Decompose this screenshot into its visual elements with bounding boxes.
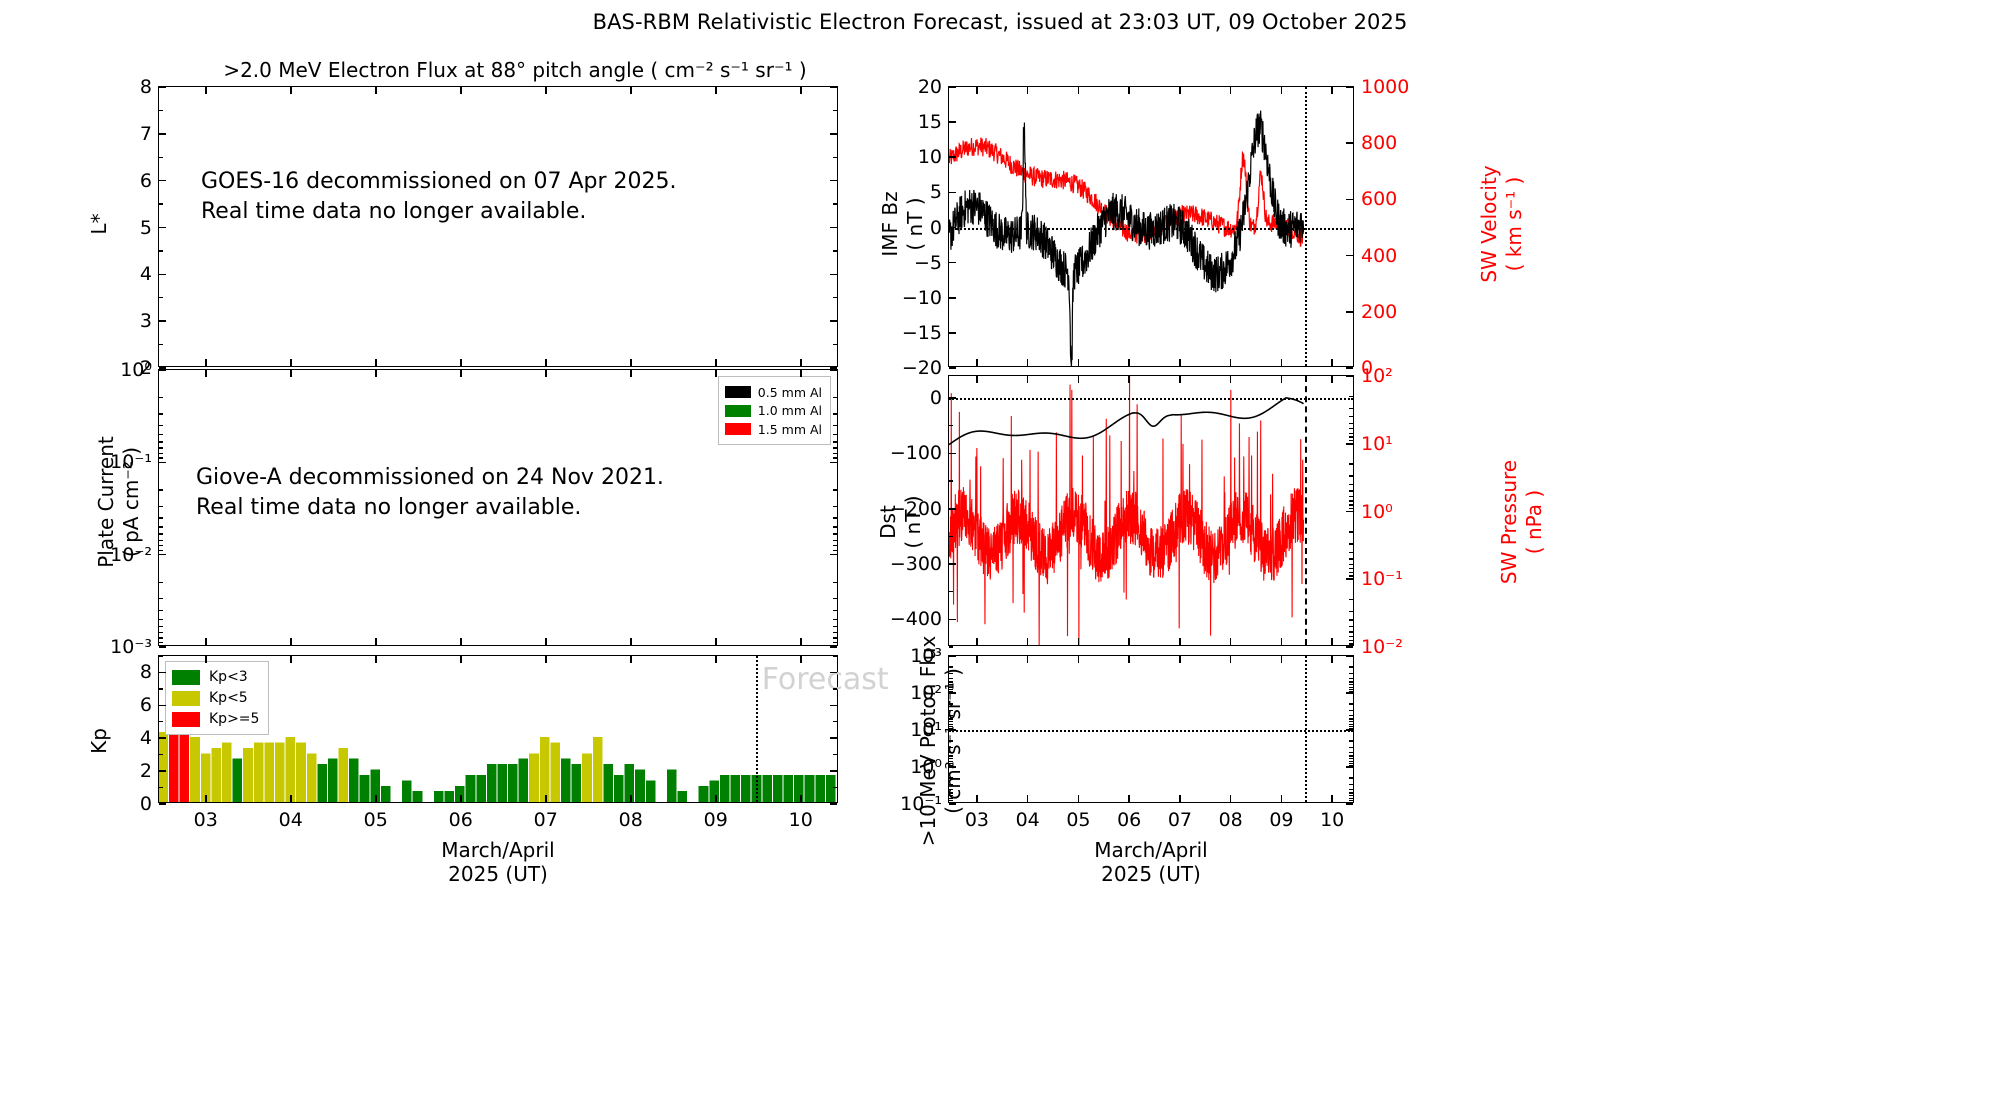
plate-message-line2: Real time data no longer available.	[196, 493, 581, 522]
proton-ylabel-line1: >10 MeV Proton Flux	[916, 606, 940, 876]
imf-ytick-1: 15	[918, 111, 942, 133]
legend-swatch-1.5mm	[725, 423, 751, 435]
kp-legend-swatch-mid	[172, 691, 200, 706]
sw-velocity-ylabel-line2: ( km s⁻¹ )	[1502, 139, 1526, 309]
swp-ytick-0: 10²	[1361, 365, 1393, 387]
flux-message-line2: Real time data no longer available.	[201, 197, 586, 226]
kp-xtick-04: 04	[279, 809, 303, 831]
sw-pressure-ylabel-line2: ( nPa )	[1522, 427, 1546, 617]
electron-flux-panel: GOES-16 decommissioned on 07 Apr 2025. R…	[158, 86, 838, 367]
kp-xtick-05: 05	[364, 809, 388, 831]
legend-item-2: 1.5 mm Al	[725, 421, 822, 438]
flux-ytick-7: 7	[140, 123, 152, 145]
plate-message-line1: Giove-A decommissioned on 24 Nov 2021.	[196, 463, 664, 492]
dst-panel: 0−100−200−300−40010²10¹10⁰10⁻¹10⁻²	[948, 375, 1354, 646]
plate-current-legend: 0.5 mm Al 1.0 mm Al 1.5 mm Al	[718, 376, 831, 445]
proton-xtick-07: 07	[1168, 809, 1192, 831]
imf-forecast-divider	[1305, 87, 1307, 366]
flux-ytick-8: 8	[140, 76, 152, 98]
kp-xtick-08: 08	[619, 809, 643, 831]
flux-panel-title: >2.0 MeV Electron Flux at 88° pitch angl…	[155, 58, 875, 82]
legend-item-1: 1.0 mm Al	[725, 402, 822, 419]
legend-swatch-1.0mm	[725, 405, 751, 417]
kp-ytick-8: 8	[140, 661, 152, 683]
imf-bz-sw-velocity-chart	[949, 87, 1353, 366]
imf-ylabel-line1: IMF Bz	[878, 164, 902, 284]
swv-ytick-2: 600	[1361, 188, 1397, 210]
swp-ytick-3: 10⁻¹	[1361, 568, 1403, 590]
kp-legend-swatch-high	[172, 712, 200, 727]
imf-ytick-4: 0	[930, 217, 942, 239]
flux-ytick-5: 5	[140, 217, 152, 239]
kp-legend-item-2: Kp>=5	[172, 709, 259, 729]
kp-xtick-10: 10	[789, 809, 813, 831]
flux-message-line1: GOES-16 decommissioned on 07 Apr 2025.	[201, 167, 677, 196]
page-title: BAS-RBM Relativistic Electron Forecast, …	[0, 10, 2000, 34]
proton-threshold-line	[949, 730, 1353, 732]
imf-ytick-7: −15	[902, 322, 942, 344]
dst-zero-line	[949, 398, 1353, 400]
proton-xlabel-line2: 2025 (UT)	[1011, 862, 1291, 886]
flux-ytick-3: 3	[140, 310, 152, 332]
kp-forecast-divider	[756, 656, 758, 802]
forecast-dashboard: BAS-RBM Relativistic Electron Forecast, …	[0, 0, 2000, 1100]
legend-swatch-0.5mm	[725, 386, 751, 398]
dst-sw-pressure-chart	[949, 376, 1353, 645]
flux-ylabel: L*	[87, 204, 111, 244]
dst-ytick-0: 0	[930, 387, 942, 409]
proton-xtick-05: 05	[1066, 809, 1090, 831]
swp-ytick-1: 10¹	[1361, 433, 1393, 455]
proton-xtick-10: 10	[1320, 809, 1344, 831]
kp-xtick-06: 06	[449, 809, 473, 831]
swp-ytick-2: 10⁰	[1361, 501, 1393, 523]
dst-forecast-divider	[1305, 376, 1307, 645]
plate-ylabel-line2: ( pA cm⁻² )	[119, 417, 143, 587]
swv-ytick-1: 800	[1361, 132, 1397, 154]
imf-ytick-8: −20	[902, 357, 942, 379]
imf-bz-panel: 20151050−5−10−15−2010008006004002000	[948, 86, 1354, 367]
legend-item-0: 0.5 mm Al	[725, 384, 822, 401]
kp-panel: Forecast Kp<3 Kp<5 Kp>=5 864200304050607…	[158, 655, 838, 803]
plate-ytick-3: 10⁻³	[110, 636, 152, 658]
kp-xlabel-line2: 2025 (UT)	[358, 862, 638, 886]
imf-ytick-3: 5	[930, 181, 942, 203]
legend-label-0.5mm: 0.5 mm Al	[758, 385, 822, 400]
swv-ytick-3: 400	[1361, 245, 1397, 267]
kp-legend-swatch-low	[172, 670, 200, 685]
proton-ylabel-line2: ( cm² s⁻¹ sr⁻¹ )	[941, 606, 965, 876]
proton-xtick-06: 06	[1117, 809, 1141, 831]
kp-xtick-03: 03	[194, 809, 218, 831]
kp-legend-item-1: Kp<5	[172, 688, 259, 708]
dst-ytick-−100: −100	[890, 442, 942, 464]
proton-forecast-divider	[1305, 656, 1307, 802]
swv-ytick-0: 1000	[1361, 76, 1409, 98]
kp-ylabel: Kp	[87, 721, 111, 761]
kp-xlabel-line1: March/April	[358, 838, 638, 862]
imf-ytick-0: 20	[918, 76, 942, 98]
legend-label-1.0mm: 1.0 mm Al	[758, 403, 822, 418]
kp-legend-label-high: Kp>=5	[209, 711, 259, 727]
swp-ytick-4: 10⁻²	[1361, 636, 1403, 658]
plate-ylabel-line1: Plate Current	[94, 417, 118, 587]
imf-ytick-6: −10	[902, 287, 942, 309]
sw-pressure-ylabel-line1: SW Pressure	[1497, 427, 1521, 617]
imf-ylabel-line2: ( nT )	[903, 164, 927, 284]
flux-ytick-4: 4	[140, 263, 152, 285]
kp-ytick-0: 0	[140, 793, 152, 815]
dst-ylabel-line2: ( nT )	[901, 477, 925, 567]
proton-xtick-08: 08	[1219, 809, 1243, 831]
kp-legend-label-mid: Kp<5	[209, 690, 248, 706]
sw-velocity-ylabel-line1: SW Velocity	[1477, 139, 1501, 309]
forecast-watermark: Forecast	[762, 662, 889, 697]
kp-legend-label-low: Kp<3	[209, 669, 248, 685]
proton-xtick-09: 09	[1269, 809, 1293, 831]
swv-ytick-4: 200	[1361, 301, 1397, 323]
dst-ylabel-line1: Dst	[876, 477, 900, 567]
flux-ytick-6: 6	[140, 170, 152, 192]
proton-flux-panel: 10³10²10¹10⁰10⁻¹0304050607080910	[948, 655, 1354, 803]
plate-current-panel: Giove-A decommissioned on 24 Nov 2021. R…	[158, 369, 838, 646]
imf-zero-line	[949, 228, 1353, 230]
kp-legend: Kp<3 Kp<5 Kp>=5	[165, 661, 269, 735]
kp-legend-item-0: Kp<3	[172, 667, 259, 687]
proton-xtick-04: 04	[1016, 809, 1040, 831]
legend-label-1.5mm: 1.5 mm Al	[758, 422, 822, 437]
kp-xtick-07: 07	[534, 809, 558, 831]
proton-xlabel-line1: March/April	[1011, 838, 1291, 862]
proton-xtick-03: 03	[965, 809, 989, 831]
kp-xtick-09: 09	[704, 809, 728, 831]
kp-ytick-2: 2	[140, 760, 152, 782]
kp-ytick-6: 6	[140, 694, 152, 716]
plate-ytick-0: 10⁰	[120, 359, 152, 381]
kp-ytick-4: 4	[140, 727, 152, 749]
